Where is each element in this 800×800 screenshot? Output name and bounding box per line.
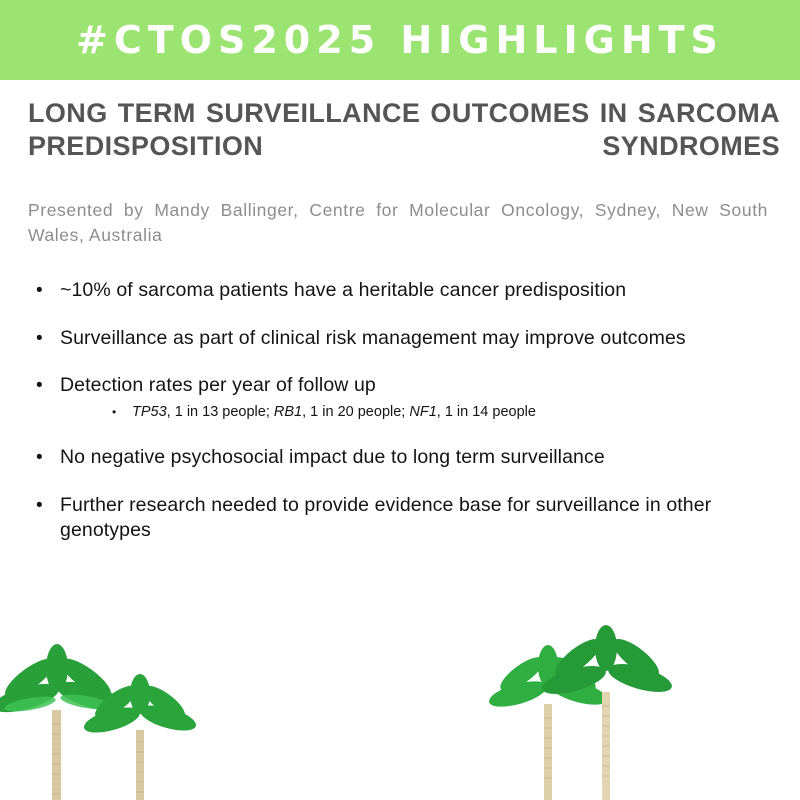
bullet-marker-icon: •: [36, 278, 60, 303]
gene-rate-tp53: , 1 in 13 people;: [167, 404, 274, 420]
presenter-line: Presented by Mandy Ballinger, Centre for…: [28, 198, 768, 249]
bullet-marker-icon: •: [36, 445, 60, 470]
list-item: • ~10% of sarcoma patients have a herita…: [36, 278, 780, 304]
gene-rate-rb1: , 1 in 20 people;: [302, 404, 409, 420]
list-item: • Further research needed to provide evi…: [36, 493, 780, 544]
bullet-marker-icon: •: [36, 373, 60, 398]
bullet-text: Surveillance as part of clinical risk ma…: [60, 326, 780, 352]
page-title: LONG TERM SURVEILLANCE OUTCOMES IN SARCO…: [28, 97, 780, 196]
palm-tree-icon: [78, 670, 208, 800]
list-item: • Surveillance as part of clinical risk …: [36, 326, 780, 352]
banner-title: #CTOS2025 HIGHLIGHTS: [76, 21, 724, 59]
palm-tree-icon: [538, 622, 678, 800]
bullet-text: Further research needed to provide evide…: [60, 493, 780, 544]
gene-name-tp53: TP53: [132, 404, 167, 420]
sub-bullet-text: TP53, 1 in 13 people; RB1, 1 in 20 peopl…: [132, 403, 780, 423]
bullet-marker-icon: •: [36, 493, 60, 518]
gene-rate-nf1: , 1 in 14 people: [437, 404, 536, 420]
sub-bullet-marker-icon: •: [112, 403, 132, 421]
bullet-text: No negative psychosocial impact due to l…: [60, 445, 780, 471]
bullet-list: • ~10% of sarcoma patients have a herita…: [36, 278, 780, 544]
list-item: • Detection rates per year of follow up: [36, 373, 780, 399]
footer-area: 30th Anniversary 3: [0, 620, 800, 800]
gene-name-rb1: RB1: [274, 404, 302, 420]
list-item: • No negative psychosocial impact due to…: [36, 445, 780, 471]
gene-name-nf1: NF1: [409, 404, 436, 420]
bullet-text: ~10% of sarcoma patients have a heritabl…: [60, 278, 780, 304]
bullet-text: Detection rates per year of follow up: [60, 373, 780, 399]
slide-canvas: #CTOS2025 HIGHLIGHTS LONG TERM SURVEILLA…: [0, 0, 800, 800]
header-banner: #CTOS2025 HIGHLIGHTS: [0, 0, 800, 80]
sub-list-item: • TP53, 1 in 13 people; RB1, 1 in 20 peo…: [112, 403, 780, 423]
bullet-marker-icon: •: [36, 326, 60, 351]
